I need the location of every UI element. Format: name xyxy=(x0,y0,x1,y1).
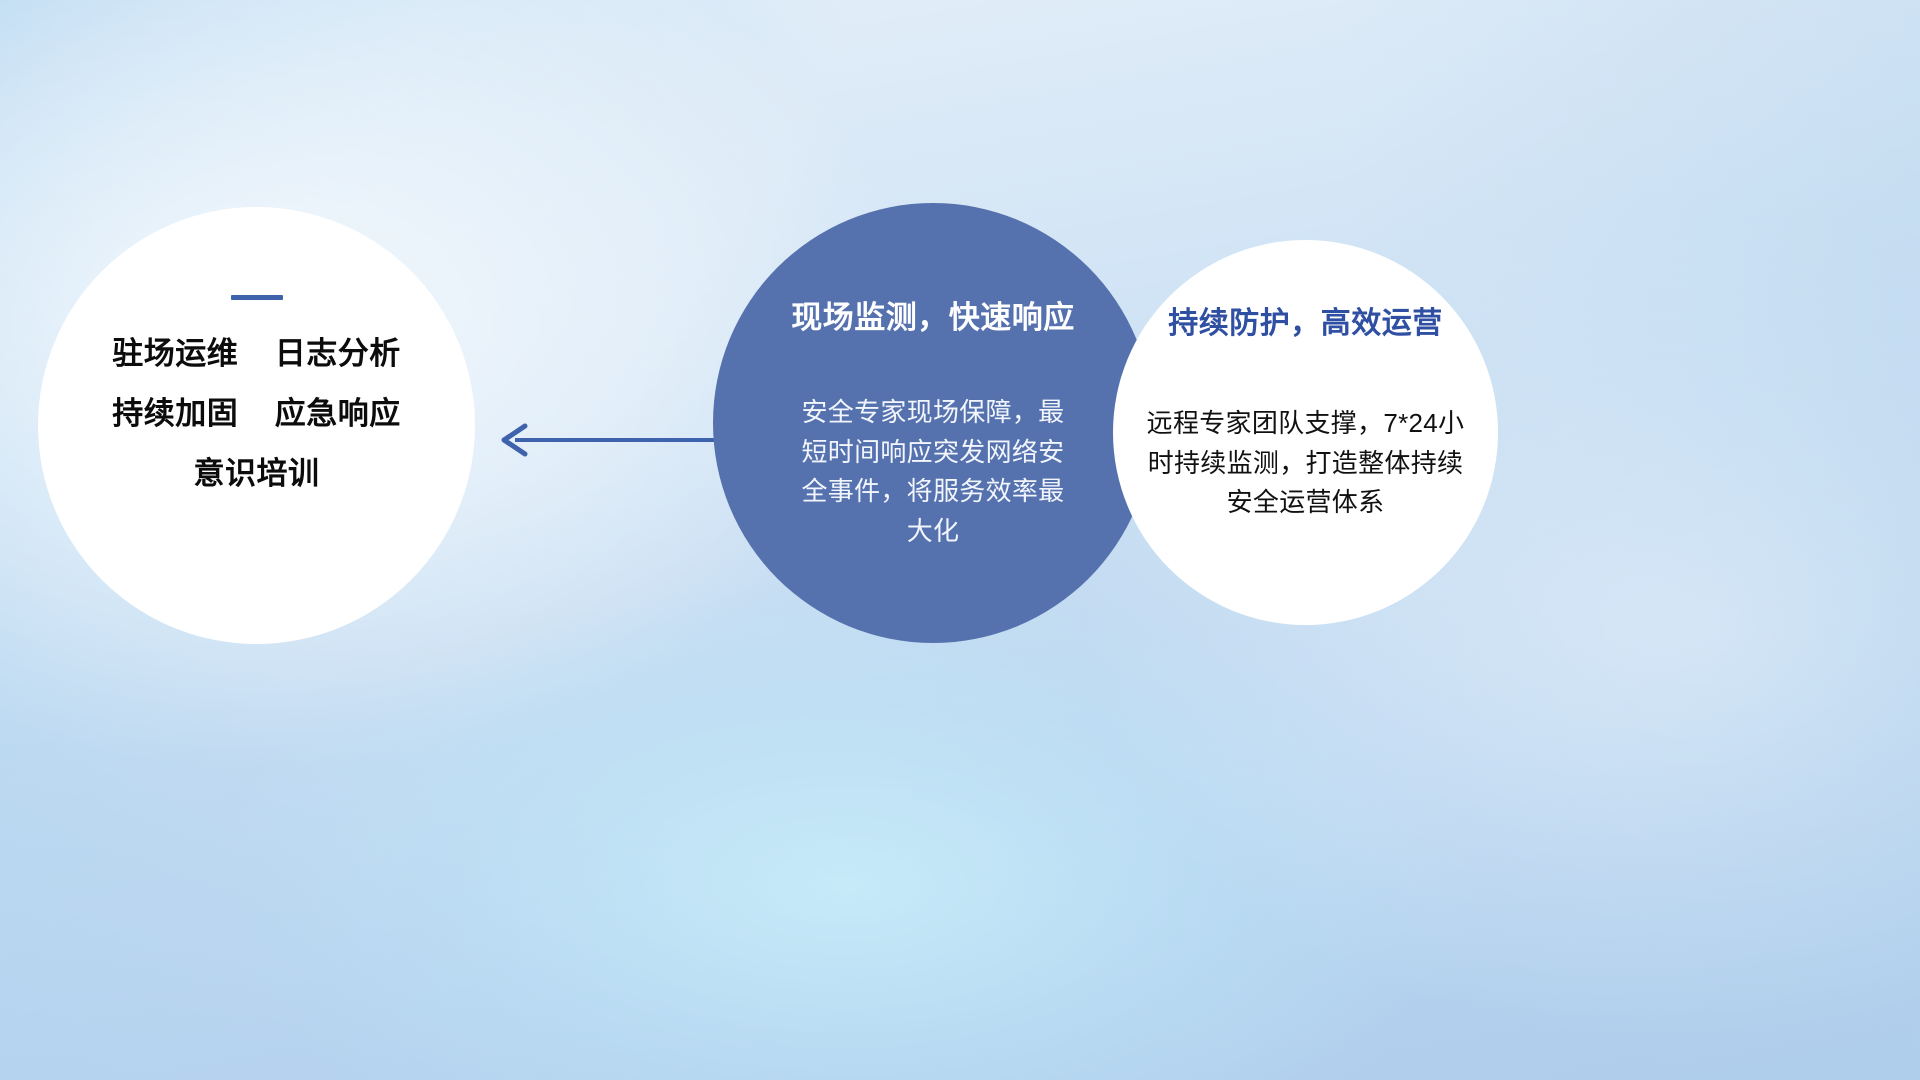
list-item: 意识培训 xyxy=(112,458,400,489)
onsite-monitoring-card[interactable]: 现场监测，快速响应 安全专家现场保障，最短时间响应突发网络安全事件，将服务效率最… xyxy=(713,203,1153,643)
card-body: 安全专家现场保障，最短时间响应突发网络安全事件，将服务效率最大化 xyxy=(793,393,1073,551)
card-body: 远程专家团队支撑，7*24小时持续监测，打造整体持续安全运营体系 xyxy=(1141,404,1471,523)
list-item: 驻场运维 日志分析 xyxy=(112,338,400,369)
continuous-protection-card[interactable]: 持续防护，高效运营 远程专家团队支撑，7*24小时持续监测，打造整体持续安全运营… xyxy=(1113,240,1498,625)
slide-canvas: 驻场运维 日志分析 持续加固 应急响应 意识培训 现场监测，快速响应 安全专家现… xyxy=(0,0,1920,1080)
divider-dash xyxy=(231,295,283,300)
capability-keyword-list: 驻场运维 日志分析 持续加固 应急响应 意识培训 xyxy=(112,338,400,489)
capability-card-left[interactable]: 驻场运维 日志分析 持续加固 应急响应 意识培训 xyxy=(38,207,475,644)
card-title: 现场监测，快速响应 xyxy=(791,292,1075,337)
list-item: 持续加固 应急响应 xyxy=(112,398,400,429)
card-title: 持续防护，高效运营 xyxy=(1168,298,1443,342)
